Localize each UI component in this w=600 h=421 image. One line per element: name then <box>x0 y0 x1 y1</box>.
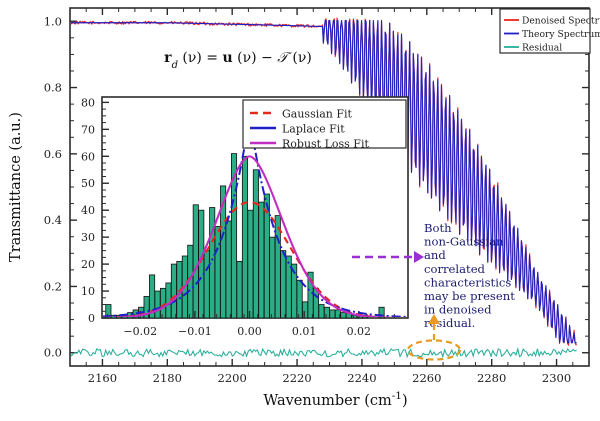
x-tick-label: 2300 <box>542 371 571 385</box>
y-tick-label: 0.6 <box>44 147 62 161</box>
inset-x-tick-label: −0.01 <box>178 325 212 338</box>
histogram-bar <box>210 208 215 319</box>
histogram-bar <box>253 170 258 318</box>
histogram-bar <box>166 283 171 318</box>
inset-plot-area: −0.02−0.010.000.010.0201020304050607080G… <box>81 96 408 338</box>
y-tick-label: 1.0 <box>44 14 62 28</box>
x-tick-label: 2160 <box>88 371 117 385</box>
inset-x-tick-label: 0.02 <box>347 325 372 338</box>
x-tick-label: 2280 <box>477 371 506 385</box>
inset-y-tick-label: 50 <box>81 177 95 190</box>
legend-label-2: Theory Spectrum <box>522 29 600 40</box>
x-tick-label: 2240 <box>347 371 376 385</box>
inset-y-tick-label: 60 <box>81 150 95 163</box>
inset-y-tick-label: 0 <box>88 312 95 325</box>
x-tick-label: 2260 <box>412 371 441 385</box>
x-tick-label: 2220 <box>282 371 311 385</box>
histogram-bar <box>330 310 335 318</box>
histogram-bar <box>215 226 220 318</box>
histogram-bar <box>237 261 242 318</box>
inset-y-tick-label: 30 <box>81 231 95 244</box>
inset-y-tick-label: 80 <box>81 96 95 109</box>
histogram-bar <box>226 221 231 318</box>
y-axis-label: Transmittance (a.u.) <box>8 112 24 262</box>
inset-legend-label-2: Laplace Fit <box>282 123 345 136</box>
legend-label-3: Residual <box>522 43 562 54</box>
annotation-line-1: Both <box>424 221 452 235</box>
histogram-bar <box>281 251 286 318</box>
inset-y-tick-label: 40 <box>81 204 95 217</box>
annotation-line-2: non-Gaussian <box>424 235 504 249</box>
histogram-bar <box>302 302 307 318</box>
x-tick-label: 2180 <box>153 371 182 385</box>
histogram-bar <box>171 264 176 318</box>
y-tick-label: 0.2 <box>44 279 62 293</box>
annotation-line-5: characteristics <box>424 275 511 289</box>
histogram-bar <box>193 205 198 318</box>
inset-x-tick-label: 0.00 <box>237 325 262 338</box>
histogram-bar <box>155 291 160 318</box>
histogram-bar <box>319 305 324 318</box>
inset-legend: Gaussian FitLaplace FitRobust Loss Fit <box>243 100 406 151</box>
legend-label-1: Denoised Spectrum <box>522 16 600 27</box>
x-tick-label: 2200 <box>218 371 247 385</box>
inset-y-tick-label: 10 <box>81 285 95 298</box>
inset-x-tick-label: −0.02 <box>123 325 157 338</box>
histogram-bar <box>242 156 247 318</box>
figure-root: 216021802200222022402260228023000.00.20.… <box>0 0 600 421</box>
inset-legend-label-1: Gaussian Fit <box>282 108 353 121</box>
x-axis-label: Wavenumber (cm-1) <box>263 390 407 409</box>
histogram-bar <box>270 237 275 318</box>
histogram-bar <box>199 210 204 318</box>
histogram-bar <box>324 307 329 318</box>
annotation-line-6: may be present <box>424 289 515 303</box>
y-tick-label: 0.8 <box>44 81 62 95</box>
annotation-line-3: and <box>424 248 446 262</box>
inset-x-tick-label: 0.01 <box>292 325 317 338</box>
histogram-bar <box>248 210 253 318</box>
y-tick-label: 0.4 <box>44 213 62 227</box>
main-legend: Denoised SpectrumTheory SpectrumResidual <box>500 9 600 54</box>
annotation-line-4: correlated <box>424 262 486 276</box>
histogram-bar <box>204 251 209 318</box>
inset-legend-label-3: Robust Loss Fit <box>282 138 369 151</box>
histogram-bar <box>297 280 302 318</box>
y-tick-label: 0.0 <box>44 346 62 360</box>
histogram-bar <box>286 256 291 318</box>
inset-y-tick-label: 20 <box>81 258 95 271</box>
inset-y-tick-label: 70 <box>81 123 95 136</box>
histogram-bar <box>259 202 264 318</box>
histogram-bar <box>341 313 346 318</box>
spectrum-figure: 216021802200222022402260228023000.00.20.… <box>0 0 600 421</box>
